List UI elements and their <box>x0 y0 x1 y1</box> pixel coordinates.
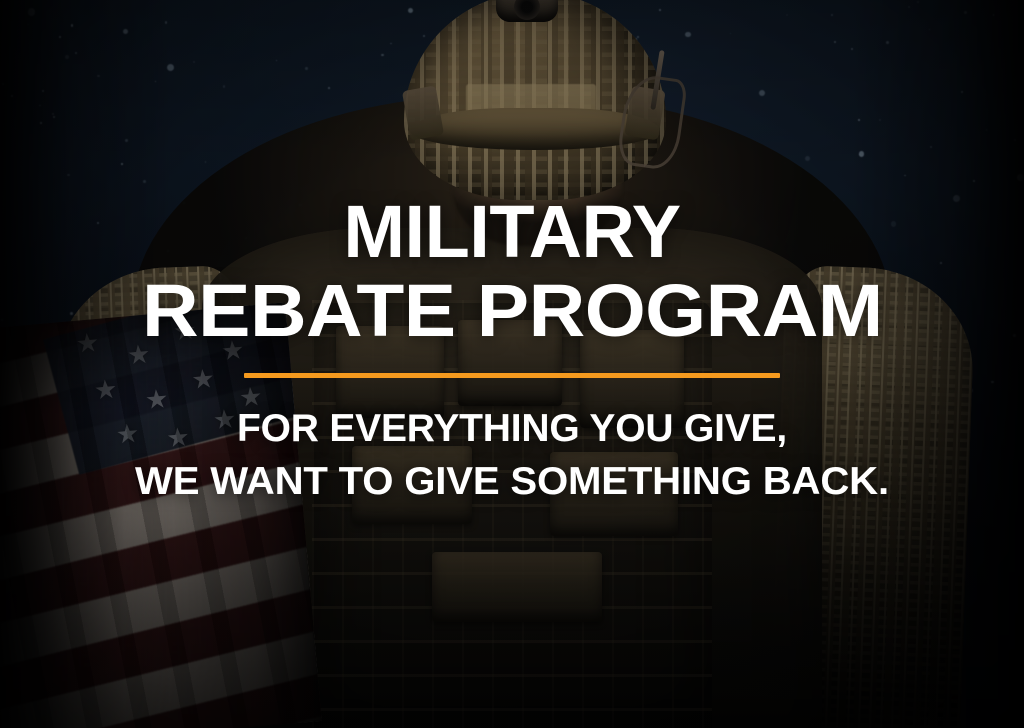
military-rebate-banner: ★★★★★★★★★★★ MILITARY REBATE PROGRAM FOR … <box>0 0 1024 728</box>
orange-divider-rule <box>244 373 780 378</box>
subheadline: FOR EVERYTHING YOU GIVE, WE WANT TO GIVE… <box>146 402 878 508</box>
subheadline-line-2: WE WANT TO GIVE SOMETHING BACK. <box>135 455 889 508</box>
banner-content: MILITARY REBATE PROGRAM FOR EVERYTHING Y… <box>0 0 1024 728</box>
subheadline-line-1: FOR EVERYTHING YOU GIVE, <box>146 402 878 455</box>
headline-line-2: REBATE PROGRAM <box>142 275 883 348</box>
headline-line-1: MILITARY <box>343 196 680 269</box>
